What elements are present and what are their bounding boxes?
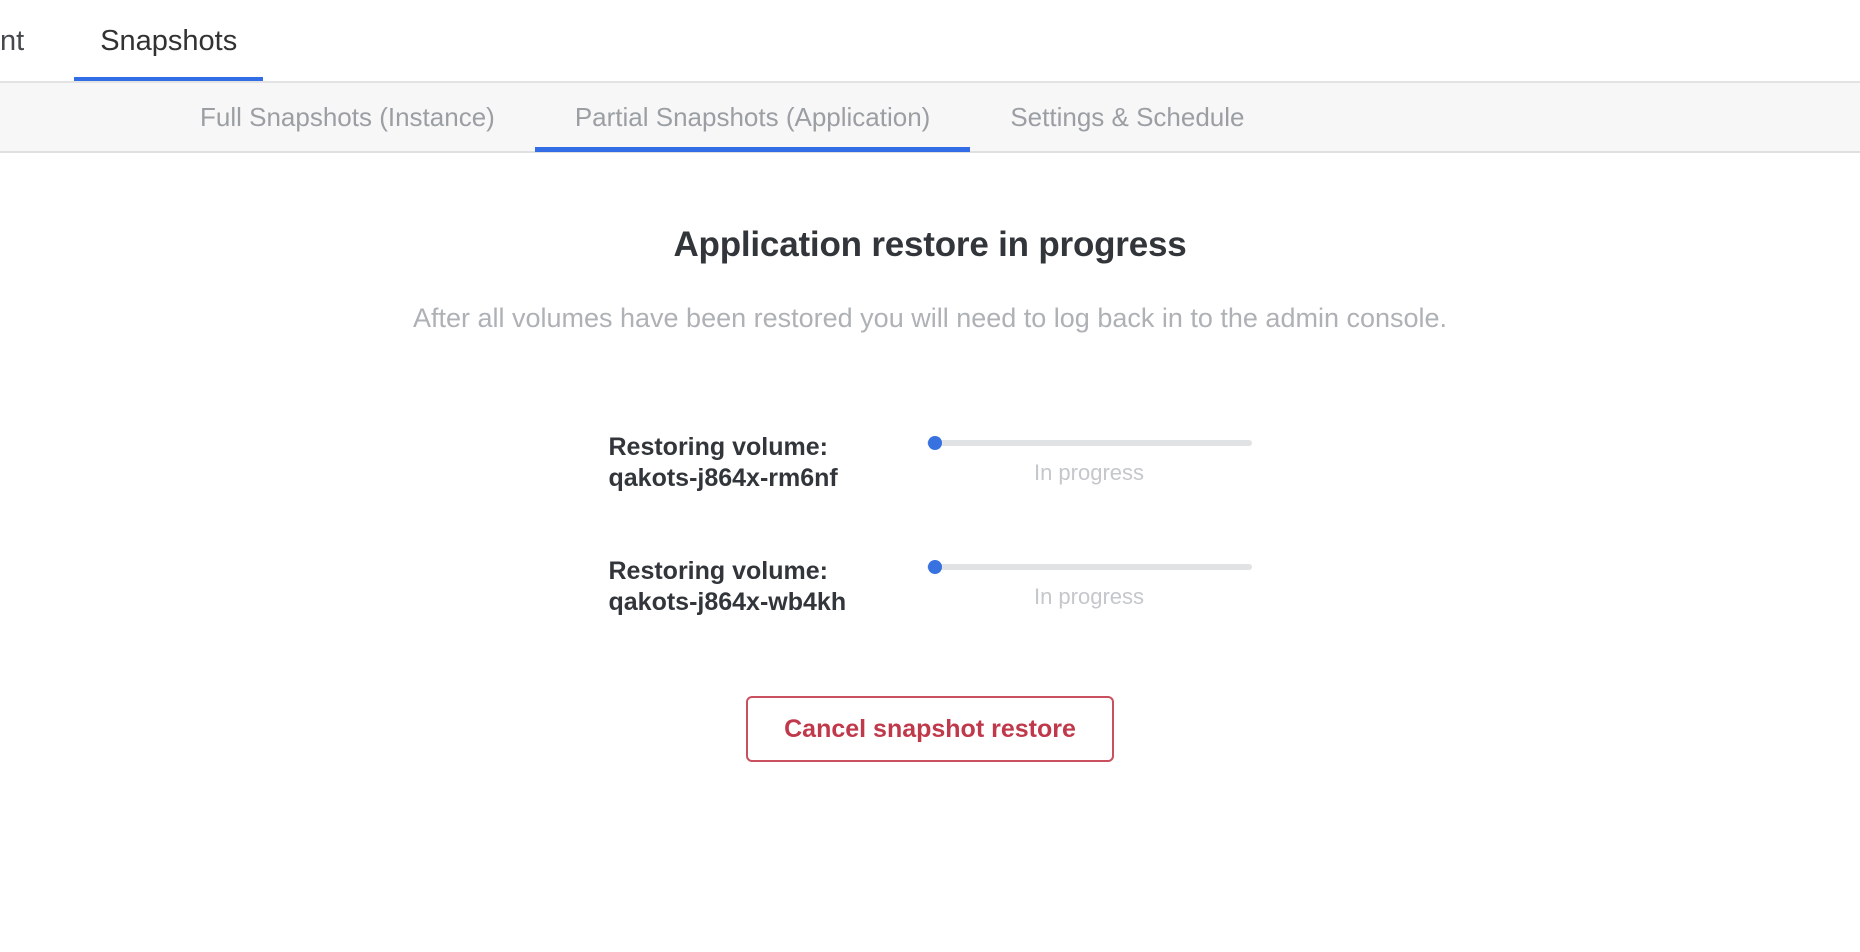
progress-status-text: In progress [1034,584,1144,610]
progress-indicator-dot [928,560,942,574]
volume-label: Restoring volume: qakots-j864x-rm6nf [609,428,927,494]
secondary-nav: Full Snapshots (Instance) Partial Snapsh… [0,83,1860,153]
restoring-volume-list: Restoring volume: qakots-j864x-rm6nf In … [609,428,1252,618]
progress-status-text: In progress [1034,460,1144,486]
primary-tab-clipped-label: nt [0,25,24,58]
volume-name: qakots-j864x-wb4kh [609,587,927,618]
restoring-volume-row: Restoring volume: qakots-j864x-rm6nf In … [609,428,1252,494]
volume-progress-group: In progress [927,552,1252,610]
volume-label: Restoring volume: qakots-j864x-wb4kh [609,552,927,618]
main-content: Application restore in progress After al… [0,153,1860,952]
subtab-partial-snapshots-label: Partial Snapshots (Application) [575,102,931,133]
subtab-full-snapshots[interactable]: Full Snapshots (Instance) [160,82,535,152]
restoring-volume-row: Restoring volume: qakots-j864x-wb4kh In … [609,552,1252,618]
page-subtitle: After all volumes have been restored you… [413,303,1447,334]
cancel-snapshot-restore-button[interactable]: Cancel snapshot restore [746,696,1114,762]
subtab-settings-schedule-label: Settings & Schedule [1010,102,1244,133]
progress-indicator-dot [928,436,942,450]
subtab-partial-snapshots[interactable]: Partial Snapshots (Application) [535,82,971,152]
volume-progress-group: In progress [927,428,1252,486]
subtab-full-snapshots-label: Full Snapshots (Instance) [200,102,495,133]
primary-tab-snapshots[interactable]: Snapshots [64,0,273,83]
page-title: Application restore in progress [673,225,1186,265]
subtab-settings-schedule[interactable]: Settings & Schedule [970,82,1284,152]
primary-tab-clipped[interactable]: nt [0,0,64,83]
volume-name: qakots-j864x-rm6nf [609,463,927,494]
primary-tab-snapshots-label: Snapshots [100,25,237,58]
volume-label-line1: Restoring volume: [609,556,927,587]
progress-bar [927,564,1252,570]
volume-label-line1: Restoring volume: [609,432,927,463]
primary-tab-strip: nt Snapshots [0,0,1860,83]
progress-bar [927,440,1252,446]
